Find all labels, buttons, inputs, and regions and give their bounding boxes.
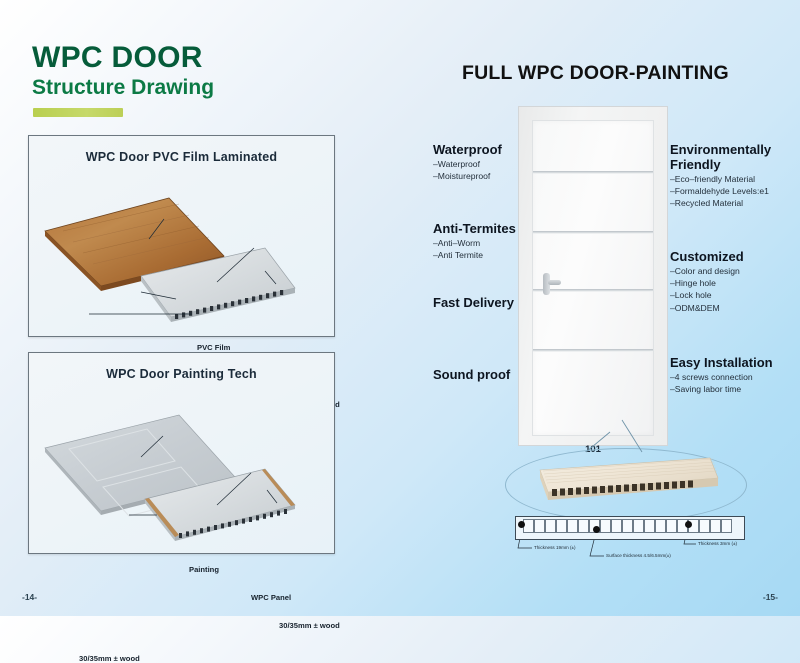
door-groove — [533, 171, 653, 174]
section-cell — [644, 519, 655, 533]
section-cell — [611, 519, 622, 533]
page-title: WPC DOOR Structure Drawing — [32, 42, 214, 100]
label-thickness-left: 30/35mm ± wood — [79, 654, 140, 663]
handle-lever — [548, 280, 561, 285]
feature-environmentally-friendly: Environmentally Friendly –Eco–friendly M… — [670, 143, 800, 209]
pvc-film-illustration — [29, 136, 334, 336]
accent-bar — [33, 108, 123, 117]
feature-item: –Formaldehyde Levels:e1 — [670, 185, 800, 197]
section-cell — [633, 519, 644, 533]
label-thickness-right: 30/35mm ± wood — [279, 621, 340, 630]
label-pvc-film: PVC Film — [197, 343, 230, 352]
door-groove — [533, 349, 653, 352]
feature-item: –Saving labor time — [670, 383, 800, 395]
feature-heading: Environmentally Friendly — [670, 143, 800, 173]
catalog-spread: WPC DOOR Structure Drawing WPC Door PVC … — [0, 0, 800, 616]
section-cell — [534, 519, 545, 533]
feature-item: –4 screws connection — [670, 371, 800, 383]
dimension-point — [518, 521, 525, 528]
door-illustration — [518, 106, 668, 446]
title-sub: Structure Drawing — [32, 76, 214, 100]
door-leaf — [532, 120, 654, 436]
label-wpc-panel: WPC Panel — [251, 593, 291, 602]
diagram-panel-pvc-film: WPC Door PVC Film Laminated — [28, 135, 335, 337]
zoom-ellipse — [505, 448, 747, 522]
section-cell — [699, 519, 710, 533]
door-handle-icon — [541, 273, 561, 295]
painting-tech-illustration — [29, 353, 334, 553]
page-number-left: -14- — [22, 592, 37, 602]
page-number-right: -15- — [763, 592, 778, 602]
section-cell — [622, 519, 633, 533]
section-cell — [655, 519, 666, 533]
door-groove — [533, 231, 653, 234]
feature-item: –Lock hole — [670, 289, 800, 301]
section-cell — [545, 519, 556, 533]
feature-easy-installation: Easy Installation –4 screws connection –… — [670, 356, 800, 395]
section-cell — [721, 519, 732, 533]
right-page: FULL WPC DOOR-PAINTING Waterproof –Water… — [400, 0, 800, 616]
left-page: WPC DOOR Structure Drawing WPC Door PVC … — [0, 0, 400, 616]
section-cell — [710, 519, 721, 533]
feature-item: –Eco–friendly Material — [670, 173, 800, 185]
feature-item: –Color and design — [670, 265, 800, 277]
panel-cross-section — [515, 516, 745, 540]
section-cell — [556, 519, 567, 533]
dimension-point — [593, 526, 600, 533]
feature-item: –ODM&DEM — [670, 302, 800, 314]
section-cell — [567, 519, 578, 533]
title-main: WPC DOOR — [32, 42, 214, 74]
diagram-panel-painting-tech: WPC Door Painting Tech — [28, 352, 335, 554]
feature-item: –Recycled Material — [670, 197, 800, 209]
dimension-label-thickness-3: Thickness 3mm (±) — [698, 541, 737, 546]
dimension-label-surface-thickness: Surface thickness 4.5/6.5mm(±) — [606, 553, 671, 558]
right-page-title: FULL WPC DOOR-PAINTING — [462, 62, 729, 85]
section-cell — [600, 519, 611, 533]
label-painting: Painting — [189, 565, 219, 574]
dimension-point — [685, 521, 692, 528]
feature-item: –Hinge hole — [670, 277, 800, 289]
feature-heading: Customized — [670, 250, 800, 265]
section-cell — [666, 519, 677, 533]
dimension-label-thickness-19: Thickness 19mm (±) — [534, 545, 576, 550]
feature-customized: Customized –Color and design –Hinge hole… — [670, 250, 800, 314]
feature-heading: Easy Installation — [670, 356, 800, 371]
section-cell — [578, 519, 589, 533]
